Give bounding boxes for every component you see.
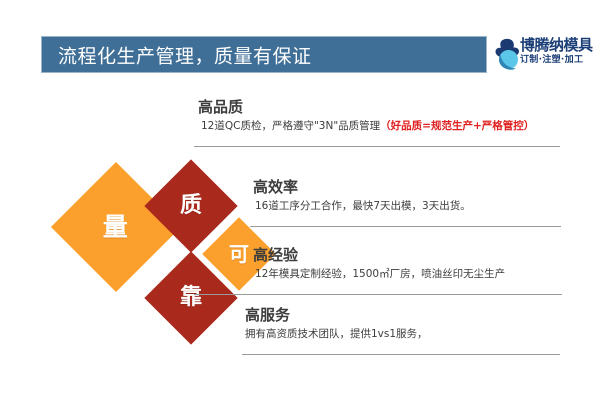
feature-desc-high-efficiency: 16道工序分工合作，最快7天出模，3天出货。: [255, 199, 471, 213]
diamond-zhi-label: 质: [180, 195, 202, 217]
diamond-ke-label: 可: [229, 244, 249, 264]
feature-block-high-efficiency: 高效率 16道工序分工合作，最快7天出模，3天出货。: [253, 178, 471, 213]
feature-desc-high-service: 拥有高资质技术团队，提供1vs1服务，: [245, 327, 428, 341]
divider-rule-2: [250, 226, 561, 227]
page-title: 流程化生产管理，质量有保证: [58, 41, 312, 68]
logo-tagline: 订制·注塑·加工: [520, 54, 598, 67]
logo-company-name: 博腾纳模具: [520, 36, 598, 54]
divider-rule-3: [194, 294, 562, 295]
feature-desc-main-high-efficiency: 16道工序分工合作，最快7天出模，3天出货。: [255, 200, 471, 212]
feature-desc-main-high-experience: 12年模具定制经验，1500㎡厂房，喷油丝印无尘生产: [255, 268, 505, 280]
logo-text: 博腾纳模具 订制·注塑·加工: [520, 36, 598, 67]
feature-title-high-efficiency: 高效率: [253, 178, 471, 196]
feature-title-high-service: 高服务: [245, 306, 428, 324]
header-bar: 流程化生产管理，质量有保证: [41, 36, 487, 73]
feature-title-high-experience: 高经验: [253, 246, 505, 264]
feature-title-high-quality: 高品质: [198, 98, 534, 116]
butterfly-droplet-logo-icon: [492, 37, 522, 71]
diamond-liang-label: 量: [103, 214, 128, 239]
divider-rule-4: [242, 354, 560, 355]
feature-block-high-experience: 高经验 12年模具定制经验，1500㎡厂房，喷油丝印无尘生产: [253, 246, 505, 281]
feature-block-high-service: 高服务 拥有高资质技术团队，提供1vs1服务，: [245, 306, 428, 341]
diamond-liang: 量: [51, 162, 181, 292]
brand-logo: 博腾纳模具 订制·注塑·加工: [492, 34, 598, 76]
feature-block-high-quality: 高品质 12道QC质检，严格遵守"3N"品质管理（好品质=规范生产+严格管控）: [198, 98, 534, 133]
divider-rule-1: [194, 146, 560, 147]
feature-desc-main-high-service: 拥有高资质技术团队，提供1vs1服务，: [245, 328, 428, 340]
slide-canvas: 流程化生产管理，质量有保证 博腾纳模具 订制·注塑·加工 量 质 可 靠 高品质…: [0, 0, 600, 400]
feature-desc-high-experience: 12年模具定制经验，1500㎡厂房，喷油丝印无尘生产: [255, 267, 505, 281]
feature-desc-high-quality: 12道QC质检，严格遵守"3N"品质管理（好品质=规范生产+严格管控）: [201, 119, 534, 133]
diamond-kao-label: 靠: [180, 287, 202, 309]
feature-desc-highlight-high-quality: （好品质=规范生产+严格管控）: [380, 120, 534, 132]
feature-desc-main-high-quality: 12道QC质检，严格遵守"3N"品质管理: [201, 120, 380, 132]
